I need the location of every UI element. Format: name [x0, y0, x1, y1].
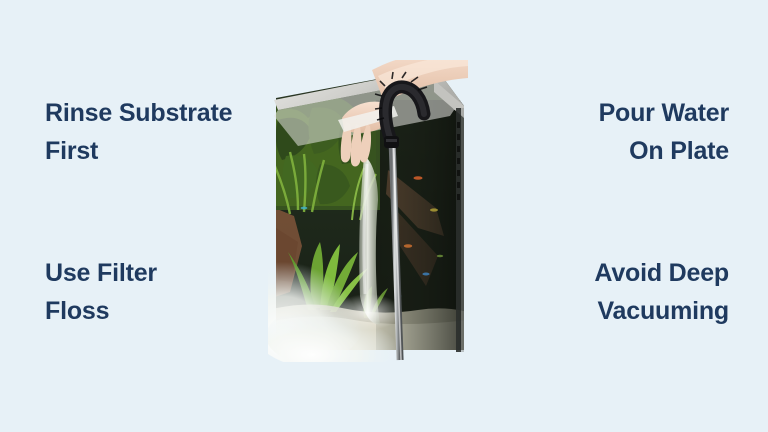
label-bottom-left: Use Filter Floss — [45, 254, 157, 330]
aquarium-photo-artwork — [268, 60, 468, 362]
aquarium-gravel-vacuum-photo — [268, 60, 468, 362]
label-top-left: Rinse Substrate First — [45, 94, 232, 170]
label-top-right: Pour Water On Plate — [599, 94, 729, 170]
label-bottom-right: Avoid Deep Vacuuming — [594, 254, 729, 330]
slide-canvas: Rinse Substrate First Pour Water On Plat… — [0, 0, 768, 432]
